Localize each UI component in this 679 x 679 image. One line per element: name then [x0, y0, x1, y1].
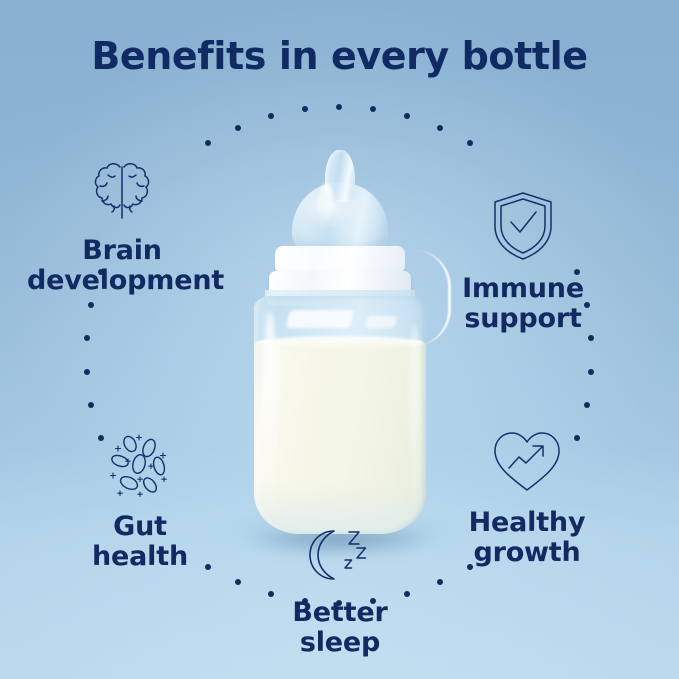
benefit-label: Gut health [45, 512, 235, 572]
probiotic-bacteria-icon [45, 424, 235, 500]
collar-upper-ring [275, 246, 405, 272]
moon-zzz-icon [245, 510, 435, 586]
page-title: Benefits in every bottle [0, 34, 679, 78]
benefit-healthy-growth: Healthy growth [432, 420, 622, 568]
benefit-better-sleep: Better sleep [245, 510, 435, 658]
bottle-nipple [292, 150, 388, 254]
heart-growth-icon [432, 420, 622, 496]
benefit-gut-health: Gut health [45, 424, 235, 572]
bottle-rim-shading [254, 296, 426, 534]
nipple-highlight [318, 184, 334, 220]
baby-bottle [235, 150, 445, 550]
benefit-label: Immune support [428, 274, 618, 334]
benefit-immune-support: Immune support [428, 186, 618, 334]
benefit-label: Better sleep [245, 598, 435, 658]
benefit-label: Brain development [27, 236, 217, 296]
benefit-brain-development: Brain development [27, 148, 217, 296]
infographic-poster: Benefits in every bottle [0, 0, 679, 679]
shield-check-icon [428, 186, 618, 262]
brain-icon [27, 148, 217, 224]
benefit-label: Healthy growth [432, 508, 622, 568]
bottle-body [254, 296, 426, 534]
